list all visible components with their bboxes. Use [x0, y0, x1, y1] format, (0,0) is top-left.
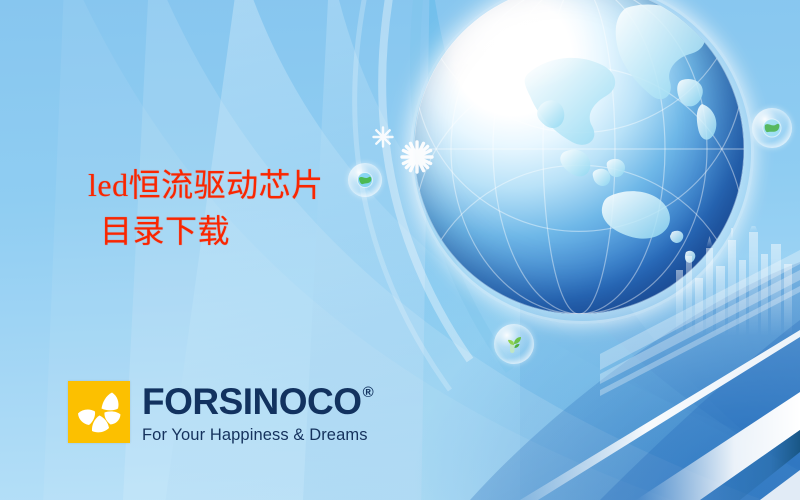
- company-logo: FORSINOCO ® For Your Happiness & Dreams: [68, 381, 373, 444]
- globe-rim: [410, 0, 754, 324]
- headline-line-1: led恒流驱动芯片: [78, 162, 438, 208]
- green-sprout-in-bubble-icon: [502, 332, 526, 356]
- logo-wordmark: FORSINOCO ®: [142, 383, 373, 420]
- globe-in-bubble-icon: [761, 117, 783, 139]
- starburst-small: [372, 126, 394, 148]
- light-rays: [600, 250, 800, 400]
- globe-highlight: [414, 0, 744, 314]
- earth-globe-graphic: [414, 0, 744, 314]
- globe-continents: [414, 0, 744, 314]
- registered-trademark-icon: ®: [363, 385, 374, 400]
- bubble-right: [752, 108, 792, 148]
- four-petal-pinwheel-icon: [68, 381, 130, 443]
- logo-tagline: For Your Happiness & Dreams: [142, 427, 373, 444]
- logo-wordmark-text: FORSINOCO: [142, 383, 362, 420]
- promotional-banner: led恒流驱动芯片 目录下载 FORSINOCO ®: [0, 0, 800, 500]
- bubble-sprout: [494, 324, 534, 364]
- logo-mark: [68, 381, 130, 443]
- logo-text: FORSINOCO ® For Your Happiness & Dreams: [142, 381, 373, 444]
- headline: led恒流驱动芯片 目录下载: [78, 162, 438, 255]
- headline-line-2: 目录下载: [78, 208, 438, 254]
- city-skyline-silhouette: [670, 226, 800, 336]
